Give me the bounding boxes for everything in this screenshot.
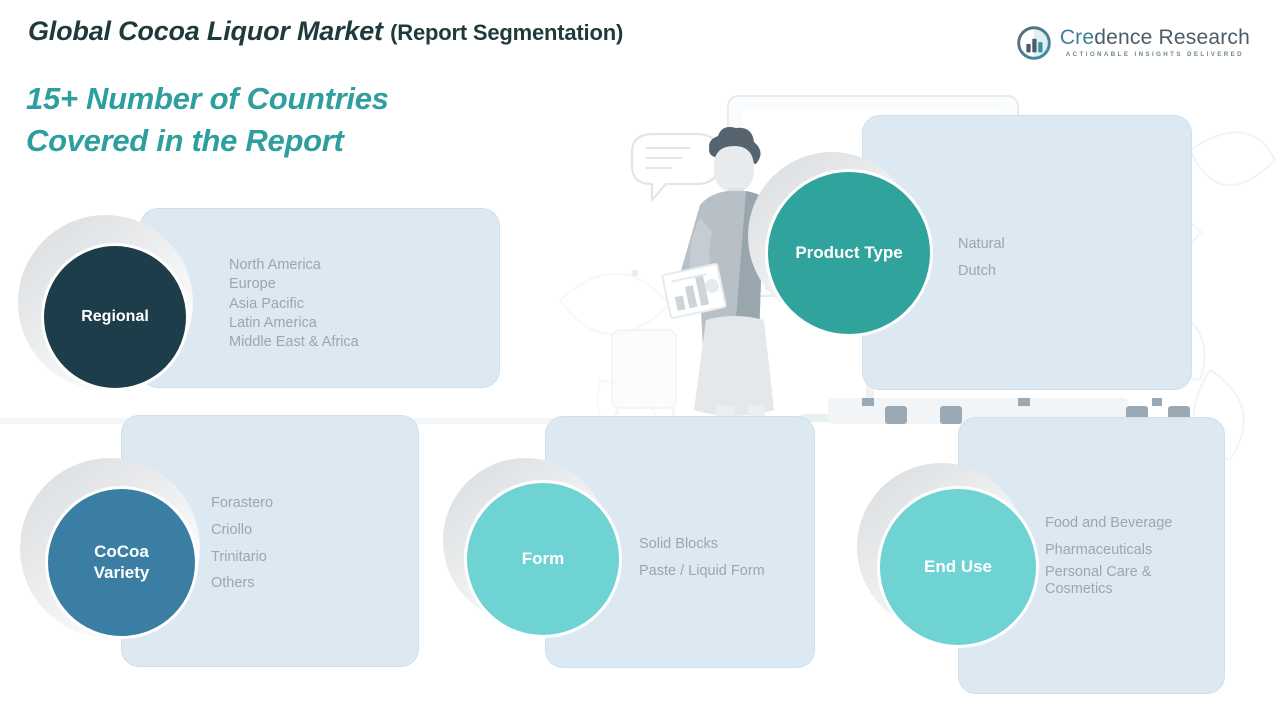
- list-item: Solid Blocks: [639, 531, 765, 558]
- brand-logo[interactable]: Credence Research Actionable Insights De…: [1017, 26, 1250, 60]
- card-form-items: Solid Blocks Paste / Liquid Form: [639, 531, 765, 585]
- node-regional-label: Regional: [81, 308, 149, 327]
- node-cocoa-variety-circle[interactable]: CoCoa Variety: [45, 486, 198, 639]
- node-cocoa-variety-label-line2: Variety: [94, 563, 150, 583]
- node-product-type-circle[interactable]: Product Type: [765, 169, 933, 337]
- node-end-use-label: End Use: [924, 557, 992, 577]
- node-form[interactable]: Form: [443, 458, 623, 638]
- list-item: Food and Beverage: [1045, 510, 1195, 537]
- dot-decor-icon: [632, 270, 639, 277]
- list-item: Criollo: [211, 517, 273, 544]
- node-form-label: Form: [522, 549, 565, 569]
- node-cocoa-variety[interactable]: CoCoa Variety: [20, 458, 220, 658]
- node-cocoa-variety-label-line1: CoCoa: [94, 542, 149, 562]
- node-product-type-label: Product Type: [795, 243, 902, 263]
- speech-bubble-icon: [632, 134, 718, 200]
- node-regional-circle[interactable]: Regional: [41, 243, 189, 391]
- card-cocoa-variety-items: Forastero Criollo Trinitario Others: [211, 490, 273, 597]
- bar-chart-circle-logo-icon: [1017, 26, 1051, 60]
- logo-text-block: Credence Research Actionable Insights De…: [1060, 27, 1250, 58]
- node-form-circle[interactable]: Form: [464, 480, 622, 638]
- list-item: Asia Pacific: [229, 295, 359, 314]
- node-end-use-circle[interactable]: End Use: [877, 486, 1039, 648]
- logo-name-part1: Cre: [1060, 26, 1094, 49]
- list-item: Others: [211, 570, 273, 597]
- subtitle-line-2: Covered in the Report: [26, 120, 389, 162]
- page-title-main: Global Cocoa Liquor Market: [28, 16, 390, 46]
- list-item: Latin America: [229, 314, 359, 333]
- card-regional-items: North America Europe Asia Pacific Latin …: [229, 256, 359, 352]
- list-item: Europe: [229, 275, 359, 294]
- node-end-use[interactable]: End Use: [857, 463, 1042, 648]
- list-item: Paste / Liquid Form: [639, 558, 765, 585]
- list-item: Pharmaceuticals: [1045, 537, 1195, 564]
- list-item: Forastero: [211, 490, 273, 517]
- list-item-line2: Cosmetics: [1045, 581, 1113, 597]
- page-title: Global Cocoa Liquor Market (Report Segme…: [28, 16, 623, 47]
- card-end-use-items: Food and Beverage Pharmaceuticals Person…: [1045, 510, 1195, 599]
- list-item: North America: [229, 256, 359, 275]
- page-subtitle: 15+ Number of Countries Covered in the R…: [26, 78, 389, 162]
- list-item: Trinitario: [211, 544, 273, 571]
- node-product-type[interactable]: Product Type: [748, 152, 933, 337]
- logo-name-part2: dence Research: [1094, 26, 1250, 49]
- logo-tagline: Actionable Insights Delivered: [1060, 52, 1250, 58]
- node-regional[interactable]: Regional: [18, 215, 218, 395]
- list-item-line1: Personal Care &: [1045, 564, 1151, 580]
- infographic-canvas: Global Cocoa Liquor Market (Report Segme…: [0, 0, 1280, 720]
- subtitle-line-1: 15+ Number of Countries: [26, 78, 389, 120]
- card-product-type-items: Natural Dutch: [958, 231, 1005, 285]
- list-item: Personal Care &Cosmetics: [1045, 564, 1195, 599]
- page-title-parenthetical: (Report Segmentation): [390, 20, 623, 45]
- list-item: Dutch: [958, 258, 1005, 285]
- list-item: Middle East & Africa: [229, 333, 359, 352]
- logo-company-name: Credence Research: [1060, 27, 1250, 48]
- list-item: Natural: [958, 231, 1005, 258]
